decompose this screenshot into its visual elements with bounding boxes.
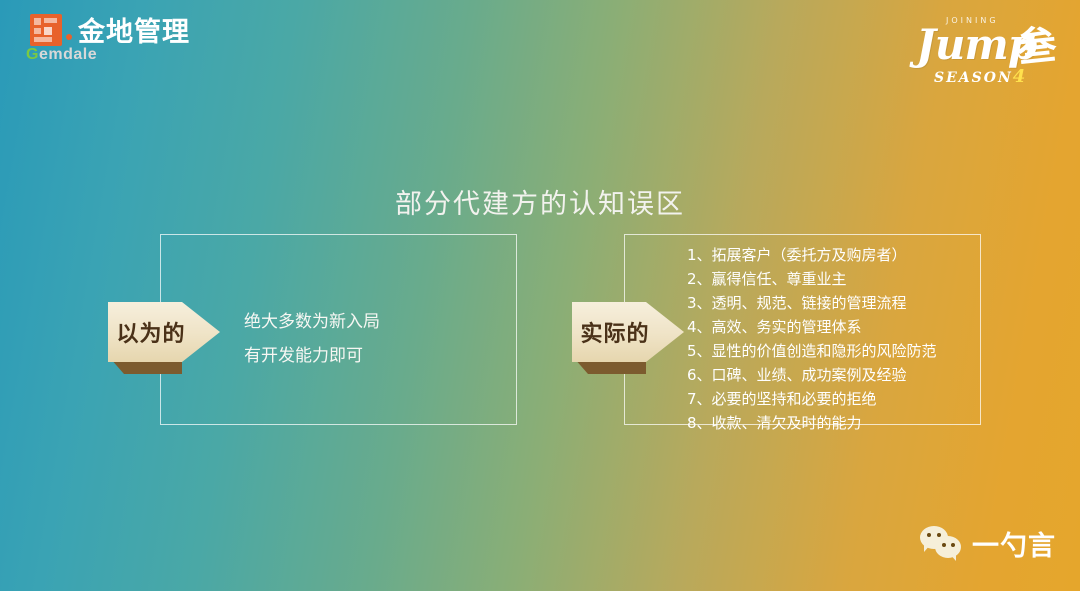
reality-list: 1、拓展客户（委托方及购房者） 2、赢得信任、尊重业主 3、透明、规范、链接的管… (687, 244, 987, 436)
season-word: SEASON (934, 70, 1013, 86)
brand-name-en-rest: emdale (39, 46, 97, 63)
gemdale-building-mark-icon (30, 14, 62, 46)
list-item: 5、显性的价值创造和隐形的风险防范 (687, 340, 987, 364)
reality-banner-label: 实际的 (572, 302, 658, 362)
list-item: 8、收款、清欠及时的能力 (687, 412, 987, 436)
slide-canvas: 金地管理 Gemdale JOINING Jump 叁 SEASON4 部分代建… (0, 0, 1080, 591)
reality-list-items: 1、拓展客户（委托方及购房者） 2、赢得信任、尊重业主 3、透明、规范、链接的管… (687, 244, 987, 436)
jump-cn-mark: 叁 (1013, 12, 1059, 74)
wechat-icon (920, 526, 968, 562)
jump-season-label: SEASON4 (934, 66, 1027, 87)
assumption-banner: 以为的 (108, 302, 220, 372)
list-item: 7、必要的坚持和必要的拒绝 (687, 388, 987, 412)
assumption-line-1: 绝大多数为新入局 (244, 305, 509, 339)
assumption-text: 绝大多数为新入局 有开发能力即可 (244, 305, 509, 373)
list-item: 1、拓展客户（委托方及购房者） (687, 244, 987, 268)
wechat-watermark: 一勺言 (920, 524, 1060, 568)
list-item: 3、透明、规范、链接的管理流程 (687, 292, 987, 316)
wechat-account-name: 一勺言 (972, 524, 1056, 563)
jump-campaign-logo: JOINING Jump 叁 SEASON4 (908, 8, 1058, 88)
list-item: 6、口碑、业绩、成功案例及经验 (687, 364, 987, 388)
brand-name-en-initial: G (26, 46, 39, 63)
list-item: 2、赢得信任、尊重业主 (687, 268, 987, 292)
page-title: 部分代建方的认知误区 (0, 182, 1080, 221)
season-number: 4 (1013, 66, 1028, 87)
gemdale-dot-icon (66, 34, 72, 40)
brand-name-en: Gemdale (26, 46, 97, 64)
assumption-banner-label: 以为的 (108, 302, 194, 362)
list-item: 4、高效、务实的管理体系 (687, 316, 987, 340)
reality-banner: 实际的 (572, 302, 684, 372)
gemdale-logo: 金地管理 Gemdale (22, 12, 242, 68)
assumption-line-2: 有开发能力即可 (244, 339, 509, 373)
brand-name-cn: 金地管理 (78, 10, 190, 49)
